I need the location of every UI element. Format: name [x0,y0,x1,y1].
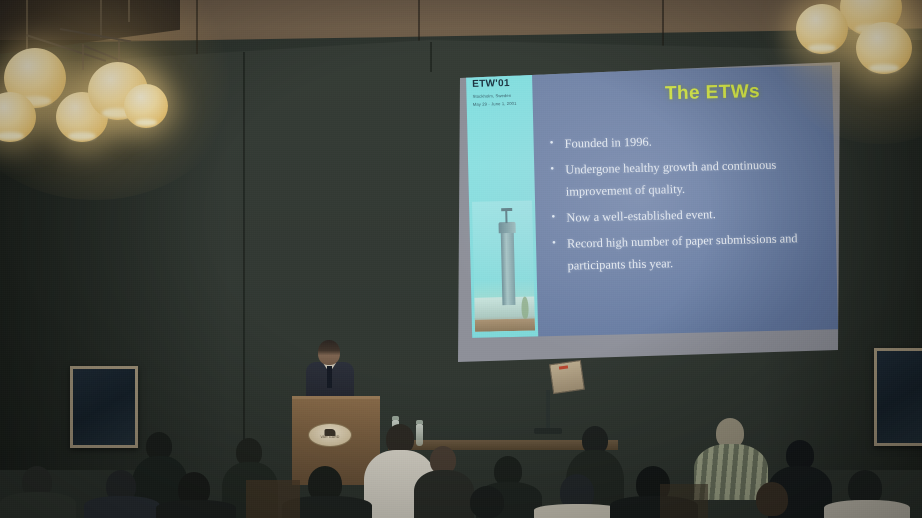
lamp-rod [128,0,130,22]
tower-shaft [501,231,516,305]
pendant-lamp [796,4,848,54]
wall-seam [430,42,432,72]
illustration-tree [521,297,529,319]
audience-shoulders [534,504,622,518]
chair-back [660,484,708,518]
tower-crown [501,208,512,211]
chair-back [246,480,300,518]
podium-logo-text: VAR GARD [309,435,351,439]
slide-title: The ETWs [602,80,822,107]
audience-shoulders [414,470,474,518]
artwork-canvas [877,351,922,443]
audience-shoulders [84,496,160,518]
speaker-head [318,340,340,365]
audience-shoulders [0,492,76,518]
presentation-slide: ETW'01 Stockholm, Sweden May 29 - June 1… [466,65,838,338]
lamp-rod [100,0,102,38]
audience-shoulders [824,500,910,518]
slide-sidebar: ETW'01 Stockholm, Sweden May 29 - June 1… [466,72,538,337]
wall-seam [243,52,245,452]
city-hall-tower-image [472,200,535,331]
bottle-cap [416,420,423,424]
lamp-rod [82,44,84,70]
bottle-cap [392,416,399,420]
audience-shoulders [156,500,236,518]
monitor-stand-pole [546,390,550,430]
pendant-lamp [856,22,912,74]
bullet-item: Founded in 1996. [564,128,825,155]
podium-logo-plaque: VAR GARD [308,423,352,447]
tower-spire [505,209,507,223]
bullet-items: Founded in 1996. Undergone healthy growt… [549,128,828,277]
bullet-item: Undergone healthy growth and continuous … [565,154,827,203]
slide-bullet-list: Founded in 1996. Undergone healthy growt… [549,128,828,282]
projection-screen: ETW'01 Stockholm, Sweden May 29 - June 1… [458,62,840,362]
bullet-item: Now a well-established event. [566,202,827,229]
water-bottle [416,424,423,446]
conference-photo: ETW'01 Stockholm, Sweden May 29 - June 1… [0,0,922,518]
artwork-canvas [73,369,135,445]
bullet-item: Record high number of paper submissions … [567,228,829,277]
speaker-tie [327,366,332,388]
pendant-lamp [124,84,168,128]
audience-head [756,482,788,516]
audience-head [470,486,504,518]
slide-event-dates: May 29 - June 1, 2001 [473,100,517,109]
framed-artwork-left [70,366,138,448]
tower-belfry [499,222,516,233]
framed-artwork-right [874,348,922,446]
slide-event-code: ETW'01 [472,79,510,90]
monitor-stand-base [534,428,562,434]
